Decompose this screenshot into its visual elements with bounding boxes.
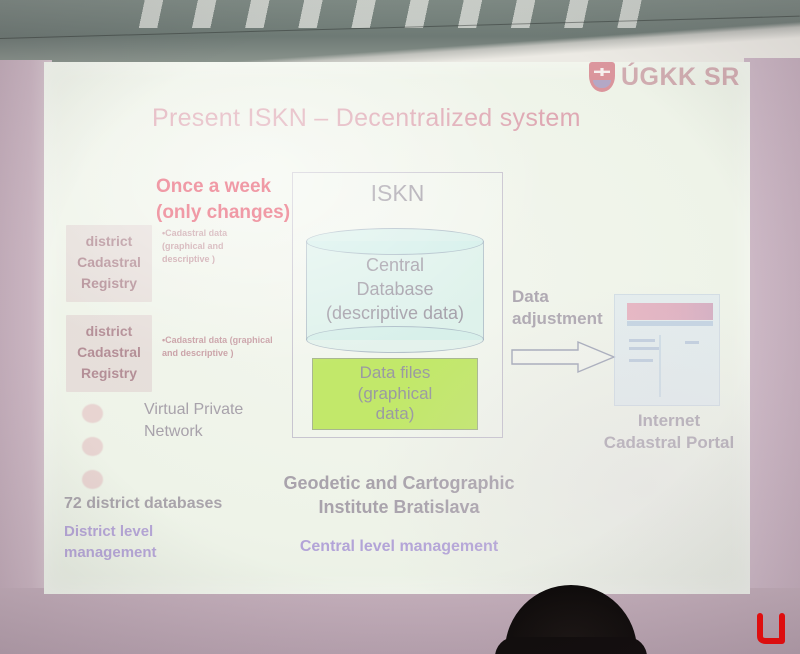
coat-of-arms-shield-icon xyxy=(589,62,615,92)
central-level-management-label: Central level management xyxy=(274,536,524,558)
central-database-line2: Database xyxy=(306,278,484,302)
internet-cadastral-portal-label: Internet Cadastral Portal xyxy=(574,410,750,454)
thumbnail-text-line xyxy=(629,339,655,342)
thumbnail-text-line xyxy=(629,347,659,350)
once-a-week-line1: Once a week xyxy=(156,174,346,200)
logo-text: ÚGKK SR xyxy=(621,63,740,92)
registry-bullet-2: •Cadastral data (graphical and descripti… xyxy=(162,334,284,360)
central-database-text: Central Database (descriptive data) xyxy=(306,254,484,325)
virtual-private-network-label: Virtual Private Network xyxy=(144,399,274,442)
thumbnail-text-line xyxy=(685,341,699,344)
thumbnail-subbar xyxy=(627,321,713,326)
district-cadastral-registry-box-2: district Cadastral Registry xyxy=(66,315,152,392)
once-a-week-line2: (only changes) xyxy=(156,200,346,226)
central-database-cylinder: Central Database (descriptive data) xyxy=(306,228,484,353)
red-annotation-mark xyxy=(756,612,788,646)
district-cadastral-registry-box-1: district Cadastral Registry xyxy=(66,225,152,302)
thumbnail-divider xyxy=(659,335,661,397)
data-adjustment-label: Data adjustment xyxy=(512,286,624,330)
institute-label: Geodetic and Cartographic Institute Brat… xyxy=(254,472,544,520)
cylinder-top-ellipse xyxy=(306,228,484,255)
once-a-week-note: Once a week (only changes) xyxy=(156,174,346,225)
ellipsis-dot xyxy=(82,470,103,489)
slide-content: ÚGKK SR Present ISKN – Decentralized sys… xyxy=(44,62,750,594)
thumbnail-header-bar xyxy=(627,303,713,320)
ugkk-logo: ÚGKK SR xyxy=(589,62,740,92)
institute-line1: Geodetic and Cartographic xyxy=(254,472,544,496)
wall-bottom xyxy=(0,588,800,654)
data-files-line3: data) xyxy=(358,404,433,425)
institute-line2: Institute Bratislava xyxy=(254,496,544,520)
internet-cadastral-portal-thumbnail xyxy=(614,294,720,406)
data-files-line1: Data files xyxy=(358,363,433,384)
vertical-ellipsis-dots xyxy=(82,404,103,489)
data-flow-arrow-icon xyxy=(510,340,618,374)
district-level-management-label: District level management xyxy=(64,522,204,563)
projected-slide-photo: ÚGKK SR Present ISKN – Decentralized sys… xyxy=(0,0,800,654)
portal-label-line2: Cadastral Portal xyxy=(574,432,750,454)
portal-label-line1: Internet xyxy=(574,410,750,432)
district-databases-count: 72 district databases xyxy=(64,495,222,513)
ellipsis-dot xyxy=(82,437,103,456)
data-files-box: Data files (graphical data) xyxy=(312,358,478,430)
data-files-line2: (graphical xyxy=(358,384,433,405)
registry-bullet-1: •Cadastral data (graphical and descripti… xyxy=(162,227,262,266)
wall-right xyxy=(744,58,800,654)
central-database-line3: (descriptive data) xyxy=(306,302,484,326)
cylinder-bottom-ellipse xyxy=(306,326,484,353)
central-database-line1: Central xyxy=(306,254,484,278)
thumbnail-text-line xyxy=(629,359,653,362)
ellipsis-dot xyxy=(82,404,103,423)
slide-title: Present ISKN – Decentralized system xyxy=(152,104,581,133)
